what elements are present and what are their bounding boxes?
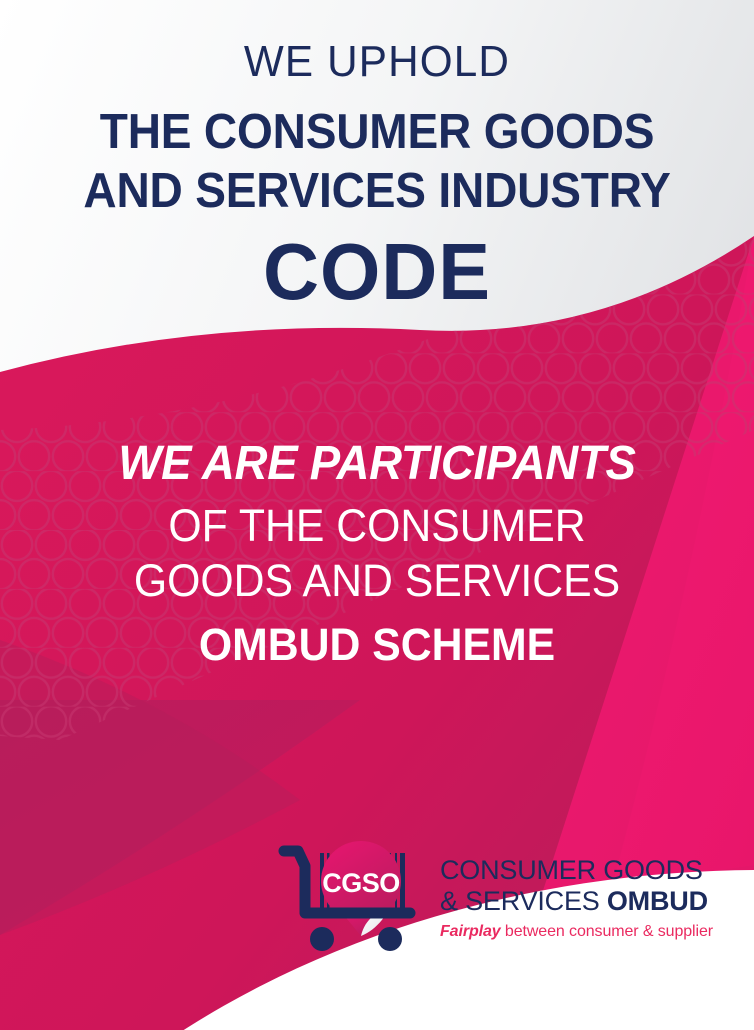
logo-name-line-2-bold: OMBUD bbox=[607, 886, 708, 916]
participation-statement-block: WE ARE PARTICIPANTS OF THE CONSUMER GOOD… bbox=[0, 437, 754, 672]
logo-tagline: Fairplay between consumer & supplier bbox=[440, 924, 713, 940]
logo-wordmark-text: CONSUMER GOODS & SERVICES OMBUD Fairplay… bbox=[440, 853, 713, 940]
top-headline-block: WE UPHOLD THE CONSUMER GOODS AND SERVICE… bbox=[0, 0, 754, 312]
headline-line-1: THE CONSUMER GOODS bbox=[23, 104, 732, 161]
cgso-wordmark: CGSO bbox=[322, 868, 400, 898]
logo-name-line-2-light: & SERVICES bbox=[440, 886, 607, 916]
poster-canvas: WE UPHOLD THE CONSUMER GOODS AND SERVICE… bbox=[0, 0, 754, 1030]
statement-line-3: GOODS AND SERVICES bbox=[19, 554, 735, 609]
logo-name-line-2: & SERVICES OMBUD bbox=[440, 888, 713, 915]
shopping-cart-barcode-icon: CGSO bbox=[278, 836, 430, 956]
statement-line-2: OF THE CONSUMER bbox=[19, 499, 735, 554]
logo-tagline-emphasis: Fairplay bbox=[440, 923, 501, 940]
logo-name-line-1: CONSUMER GOODS bbox=[440, 857, 713, 884]
kicker-we-uphold: WE UPHOLD bbox=[15, 40, 739, 84]
statement-line-4: OMBUD SCHEME bbox=[19, 618, 735, 672]
headline-emphasis-code: CODE bbox=[11, 232, 742, 312]
cgso-logo-lockup: CGSO CONSUMER GOODS & SERVICES OMBUD Fai… bbox=[278, 836, 688, 956]
logo-tagline-rest: between consumer & supplier bbox=[501, 923, 713, 940]
statement-line-1: WE ARE PARTICIPANTS bbox=[19, 437, 735, 491]
headline-line-2: AND SERVICES INDUSTRY bbox=[23, 163, 732, 220]
